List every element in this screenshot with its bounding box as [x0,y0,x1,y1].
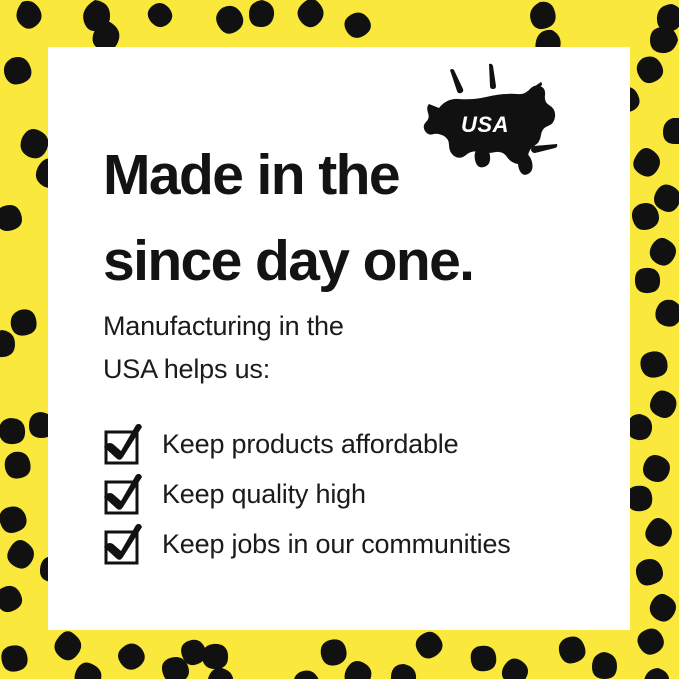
checklist-item: Keep products affordable [103,419,613,469]
usa-badge-label: USA [461,112,509,137]
checkbox-checked-icon [103,473,143,515]
usa-map-icon: USA [415,60,575,205]
checkbox-checked-icon [103,523,143,565]
body-copy: Manufacturing in the USA helps us: [103,305,344,391]
checklist-item-label: Keep products affordable [162,429,458,460]
headline-line-2: since day one. [103,233,473,290]
benefits-checklist: Keep products affordable Keep quality hi… [103,419,613,569]
content-card: Made in the since day one. USA Manufactu… [48,47,630,630]
headline-line-1: Made in the [103,147,399,204]
checklist-item: Keep jobs in our communities [103,519,613,569]
body-copy-line-1: Manufacturing in the [103,305,344,348]
checklist-item-label: Keep quality high [162,479,366,510]
checklist-item-label: Keep jobs in our communities [162,529,511,560]
checkbox-checked-icon [103,423,143,465]
promo-poster: Made in the since day one. USA Manufactu… [0,0,679,679]
checklist-item: Keep quality high [103,469,613,519]
body-copy-line-2: USA helps us: [103,348,344,391]
